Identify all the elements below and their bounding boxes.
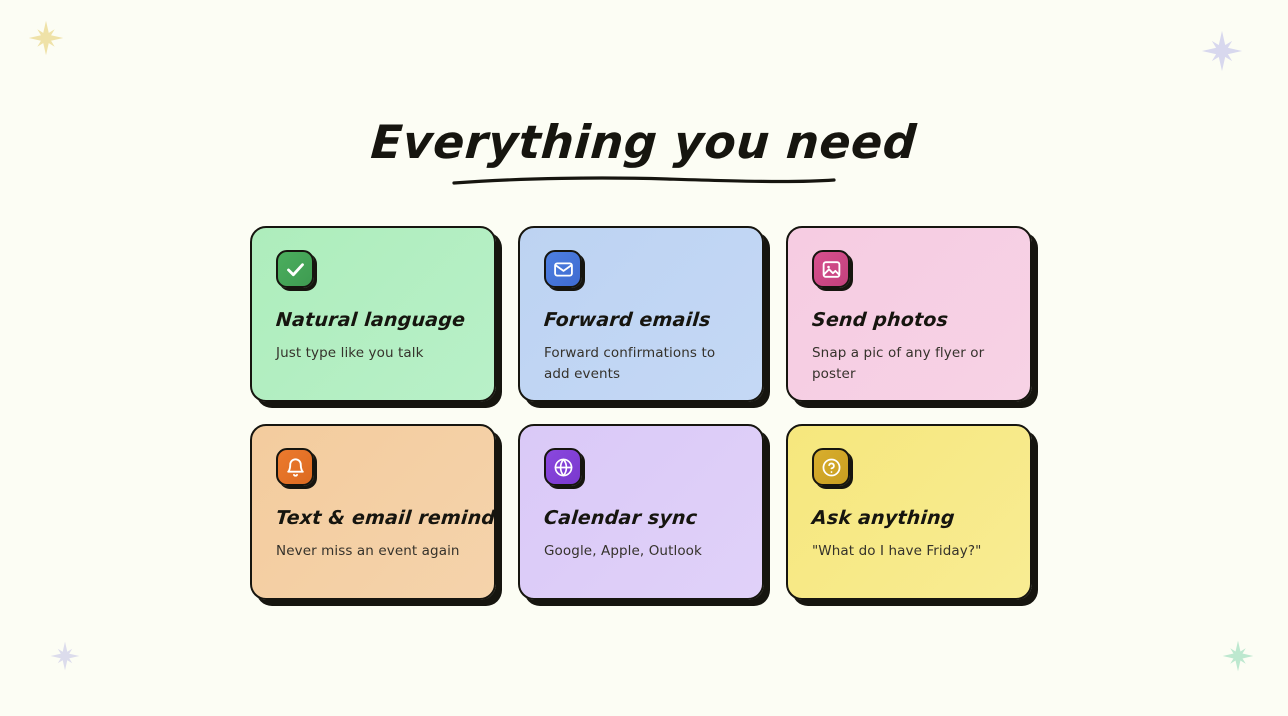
feature-card-ask-anything[interactable]: Ask anything"What do I have Friday?" (786, 424, 1032, 600)
sparkle-bottom-left (50, 641, 80, 671)
feature-card-description: "What do I have Friday?" (812, 541, 1006, 563)
globe-icon (544, 448, 582, 486)
sparkle-top-right (1201, 30, 1243, 72)
feature-card-calendar-sync[interactable]: Calendar syncGoogle, Apple, Outlook (518, 424, 764, 600)
check-icon (276, 250, 314, 288)
title-underline-stroke (452, 174, 836, 188)
feature-card-natural-language[interactable]: Natural languageJust type like you talk (250, 226, 496, 402)
sparkle-top-left (28, 20, 64, 56)
feature-card-title: Forward emails (543, 310, 739, 332)
feature-card-description: Never miss an event again (276, 541, 470, 563)
feature-card-title: Natural language (275, 310, 471, 332)
sparkle-bottom-right (1222, 640, 1254, 672)
feature-card-description: Just type like you talk (276, 343, 470, 365)
page-header: Everything you need (0, 118, 1288, 166)
page-title: Everything you need (370, 118, 919, 166)
bell-icon (276, 448, 314, 486)
feature-card-title: Ask anything (811, 508, 1007, 530)
feature-card-description: Forward confirmations to add events (544, 343, 738, 386)
help-circle-icon (812, 448, 850, 486)
feature-card-description: Snap a pic of any flyer or poster (812, 343, 1006, 386)
feature-card-description: Google, Apple, Outlook (544, 541, 738, 563)
feature-card-send-photos[interactable]: Send photosSnap a pic of any flyer or po… (786, 226, 1032, 402)
feature-card-text-email-reminders[interactable]: Text & email remindersNever miss an even… (250, 424, 496, 600)
feature-card-title: Text & email reminders (275, 508, 471, 530)
feature-card-title: Calendar sync (543, 508, 739, 530)
feature-card-forward-emails[interactable]: Forward emailsForward confirmations to a… (518, 226, 764, 402)
feature-card-grid: Natural languageJust type like you talkF… (250, 226, 1036, 600)
image-icon (812, 250, 850, 288)
feature-card-title: Send photos (811, 310, 1007, 332)
envelope-icon (544, 250, 582, 288)
